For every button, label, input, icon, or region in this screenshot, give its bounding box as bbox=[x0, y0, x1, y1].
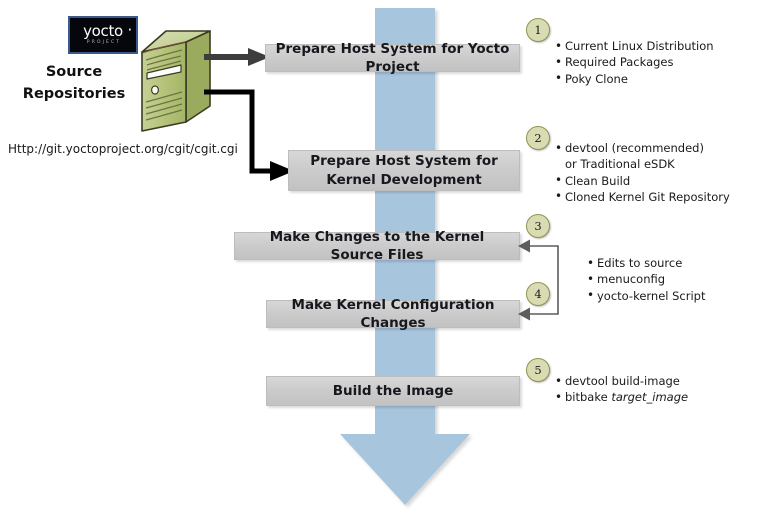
step-badge-5: 5 bbox=[526, 358, 550, 382]
step-notes-5: devtool build-image bitbake target_image bbox=[552, 373, 688, 406]
note-text: bitbake bbox=[565, 390, 611, 404]
note-item: Required Packages bbox=[565, 54, 714, 70]
step-notes-3-4-shared: Edits to source menuconfig yocto-kernel … bbox=[584, 255, 706, 304]
feedback-loop-arrows bbox=[516, 236, 582, 324]
process-box-prepare-host-kernel[interactable]: Prepare Host System for Kernel Developme… bbox=[288, 150, 520, 191]
step-badge-2: 2 bbox=[526, 126, 550, 150]
step-notes-list-3-4: Edits to source menuconfig yocto-kernel … bbox=[584, 255, 706, 304]
note-item: Clean Build bbox=[565, 173, 730, 189]
note-item: Current Linux Distribution bbox=[565, 38, 714, 54]
note-item: Edits to source bbox=[597, 255, 706, 271]
note-item: Cloned Kernel Git Repository bbox=[565, 189, 730, 205]
source-repositories-label: Source Repositories bbox=[10, 62, 138, 106]
step-badge-3: 3 bbox=[526, 214, 550, 238]
note-emphasis: target_image bbox=[611, 390, 688, 404]
process-box-prepare-host-yocto[interactable]: Prepare Host System for Yocto Project bbox=[265, 44, 520, 72]
process-box-make-kernel-source-changes[interactable]: Make Changes to the Kernel Source Files bbox=[234, 232, 520, 260]
note-item: bitbake target_image bbox=[565, 389, 688, 405]
step-notes-1: Current Linux Distribution Required Pack… bbox=[552, 38, 714, 87]
note-item: yocto-kernel Script bbox=[597, 288, 706, 304]
note-item: devtool build-image bbox=[565, 373, 688, 389]
step-badge-1: 1 bbox=[526, 18, 550, 42]
source-repositories-line2: Repositories bbox=[10, 84, 138, 106]
note-item: Poky Clone bbox=[565, 71, 714, 87]
process-box-make-kernel-config-changes[interactable]: Make Kernel Configuration Changes bbox=[266, 300, 520, 328]
process-box-build-image[interactable]: Build the Image bbox=[266, 376, 520, 406]
step-notes-2: devtool (recommended) or Traditional eSD… bbox=[552, 140, 730, 205]
step-notes-list-5: devtool build-image bitbake target_image bbox=[552, 373, 688, 406]
step-notes-list-2: devtool (recommended) or Traditional eSD… bbox=[552, 140, 730, 205]
diagram-canvas: yocto PROJECT Source Repositories Http:/… bbox=[0, 0, 769, 517]
source-repositories-line1: Source bbox=[10, 62, 138, 84]
step-badge-4: 4 bbox=[526, 282, 550, 306]
note-item: devtool (recommended) or Traditional eSD… bbox=[565, 140, 715, 173]
note-item: menuconfig bbox=[597, 271, 706, 287]
yocto-project-logo: yocto PROJECT bbox=[68, 16, 138, 54]
yocto-logo-subtitle: PROJECT bbox=[85, 41, 121, 46]
yocto-logo-word: yocto bbox=[83, 24, 123, 39]
step-notes-list-1: Current Linux Distribution Required Pack… bbox=[552, 38, 714, 87]
